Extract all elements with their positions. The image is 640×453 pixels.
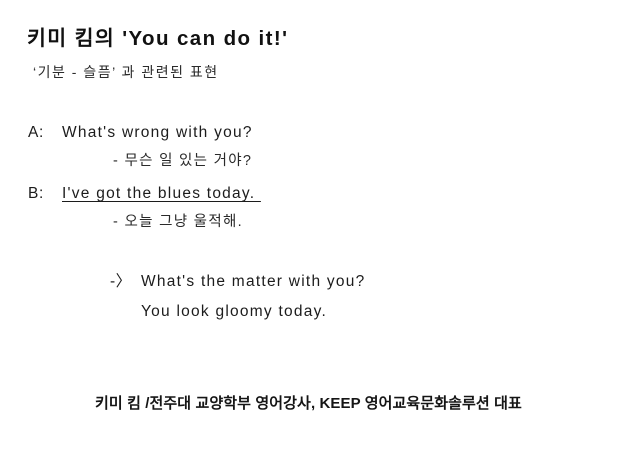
alternative-expression-1: What's the matter with you?: [141, 273, 366, 292]
page-title: 키미 킴의 'You can do it!': [27, 27, 288, 52]
dialogue-speaker-a: A:: [28, 124, 44, 143]
dialogue-english-b: I've got the blues today.: [62, 185, 261, 204]
alternative-expression-2: You look gloomy today.: [141, 303, 327, 322]
dialogue-english-a: What's wrong with you?: [62, 124, 253, 143]
dialogue-korean-a: - 무슨 일 있는 거야?: [113, 153, 252, 170]
page-subtitle: ‘기분 - 슬픔’ 과 관련된 표현: [33, 64, 219, 81]
slide-canvas: 키미 킴의 'You can do it!' ‘기분 - 슬픔’ 과 관련된 표…: [0, 0, 640, 453]
dialogue-korean-b: - 오늘 그냥 울적해.: [113, 214, 243, 231]
author-byline: 키미 킴 /전주대 교양학부 영어강사, KEEP 영어교육문화솔루션 대표: [95, 395, 522, 413]
arrow-marker-icon: -〉: [110, 273, 132, 292]
dialogue-speaker-b: B:: [28, 185, 44, 204]
